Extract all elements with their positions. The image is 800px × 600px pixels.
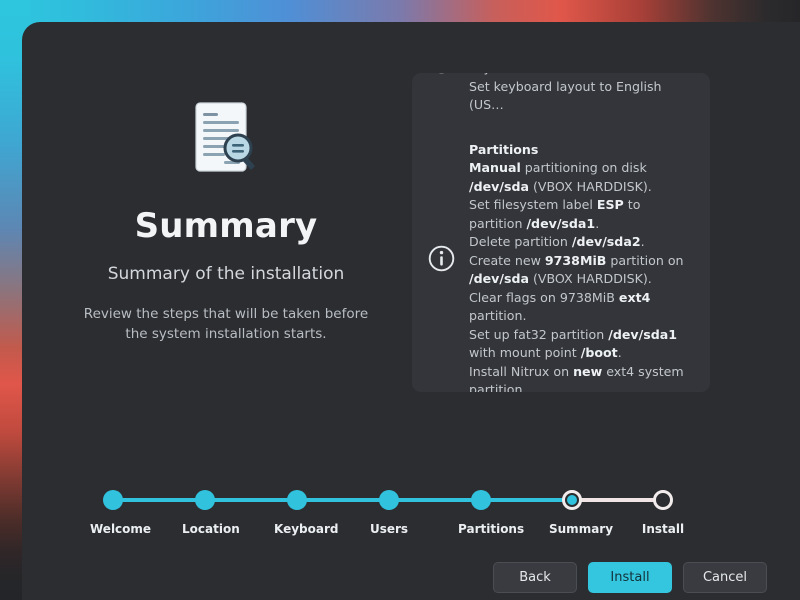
page-description: Review the steps that will be taken befo… xyxy=(76,304,376,345)
summary-entry-keyboard-body: key Pc. Set keyboard layout to English (… xyxy=(469,73,694,115)
step-label-users: Users xyxy=(366,522,412,536)
p1-tail: (VBOX HARDDISK). xyxy=(529,179,652,194)
step-dot-summary xyxy=(562,490,582,510)
cancel-button[interactable]: Cancel xyxy=(683,562,767,593)
step-dot-install xyxy=(653,490,673,510)
p6-dev: /dev/sda1 xyxy=(608,327,677,342)
step-label-welcome: Welcome xyxy=(90,522,136,536)
step-install[interactable]: Install xyxy=(640,490,686,536)
p4-dev: /dev/sda xyxy=(469,271,529,286)
p5-tail: partition. xyxy=(469,308,526,323)
p3-dev: /dev/sda2 xyxy=(572,234,641,249)
installer-window: Summary Summary of the installation Revi… xyxy=(0,0,800,600)
step-label-summary: Summary xyxy=(549,522,595,536)
partitions-heading: Partitions xyxy=(469,141,694,160)
p6-tail: . xyxy=(618,345,622,360)
p1-dev: /dev/sda xyxy=(469,179,529,194)
p7-new: new xyxy=(573,364,602,379)
step-dot-users xyxy=(379,490,399,510)
p2-esp: ESP xyxy=(597,197,624,212)
summary-scroll-panel[interactable]: key Pc. Set keyboard layout to English (… xyxy=(412,73,710,392)
p1-manual: Manual xyxy=(469,160,521,175)
step-label-keyboard: Keyboard xyxy=(274,522,320,536)
summary-entry-partitions-body: Partitions Manual partitioning on disk /… xyxy=(469,141,694,393)
p4-head: Create new xyxy=(469,253,545,268)
p2-tail: . xyxy=(595,216,599,231)
p2-dev: /dev/sda1 xyxy=(526,216,595,231)
step-label-location: Location xyxy=(182,522,228,536)
step-dot-partitions xyxy=(471,490,491,510)
p5-head: Clear flags on 9738MiB xyxy=(469,290,619,305)
document-magnifier-icon xyxy=(190,100,262,180)
footer-button-bar: Back Install Cancel xyxy=(493,562,767,593)
p2-head: Set filesystem label xyxy=(469,197,597,212)
step-dot-keyboard xyxy=(287,490,307,510)
step-location[interactable]: Location xyxy=(182,490,228,536)
info-icon xyxy=(428,245,455,276)
page-subtitle: Summary of the installation xyxy=(30,264,422,284)
keyboard-line-clipped: key Pc. xyxy=(469,73,514,75)
p3-tail: . xyxy=(641,234,645,249)
p5-fs: ext4 xyxy=(619,290,650,305)
summary-entry-partitions: Partitions Manual partitioning on disk /… xyxy=(412,141,710,393)
step-progress-bar: Welcome Location Keyboard Users Partitio… xyxy=(90,490,690,545)
p4-tail: (VBOX HARDDISK). xyxy=(529,271,652,286)
step-partitions[interactable]: Partitions xyxy=(458,490,504,536)
summary-entry-keyboard: key Pc. Set keyboard layout to English (… xyxy=(412,73,710,115)
step-keyboard[interactable]: Keyboard xyxy=(274,490,320,536)
step-label-partitions: Partitions xyxy=(458,522,504,536)
page-title: Summary xyxy=(30,206,422,246)
p6-head: Set up fat32 partition xyxy=(469,327,608,342)
keyboard-line-layout: Set keyboard layout to English (US… xyxy=(469,79,662,113)
step-dot-location xyxy=(195,490,215,510)
install-button[interactable]: Install xyxy=(588,562,672,593)
hero-section: Summary Summary of the installation Revi… xyxy=(30,100,422,345)
p3-head: Delete partition xyxy=(469,234,572,249)
step-users[interactable]: Users xyxy=(366,490,412,536)
p6-mid: with mount point xyxy=(469,345,581,360)
p4-size: 9738MiB xyxy=(545,253,607,268)
step-label-install: Install xyxy=(640,522,686,536)
back-button[interactable]: Back xyxy=(493,562,577,593)
step-welcome[interactable]: Welcome xyxy=(90,490,136,536)
p4-mid: partition on xyxy=(606,253,683,268)
p1-mid: partitioning on disk xyxy=(521,160,647,175)
p6-mount: /boot xyxy=(581,345,618,360)
step-summary[interactable]: Summary xyxy=(549,490,595,536)
info-icon xyxy=(428,73,455,78)
step-dot-welcome xyxy=(103,490,123,510)
p7-head: Install Nitrux on xyxy=(469,364,573,379)
